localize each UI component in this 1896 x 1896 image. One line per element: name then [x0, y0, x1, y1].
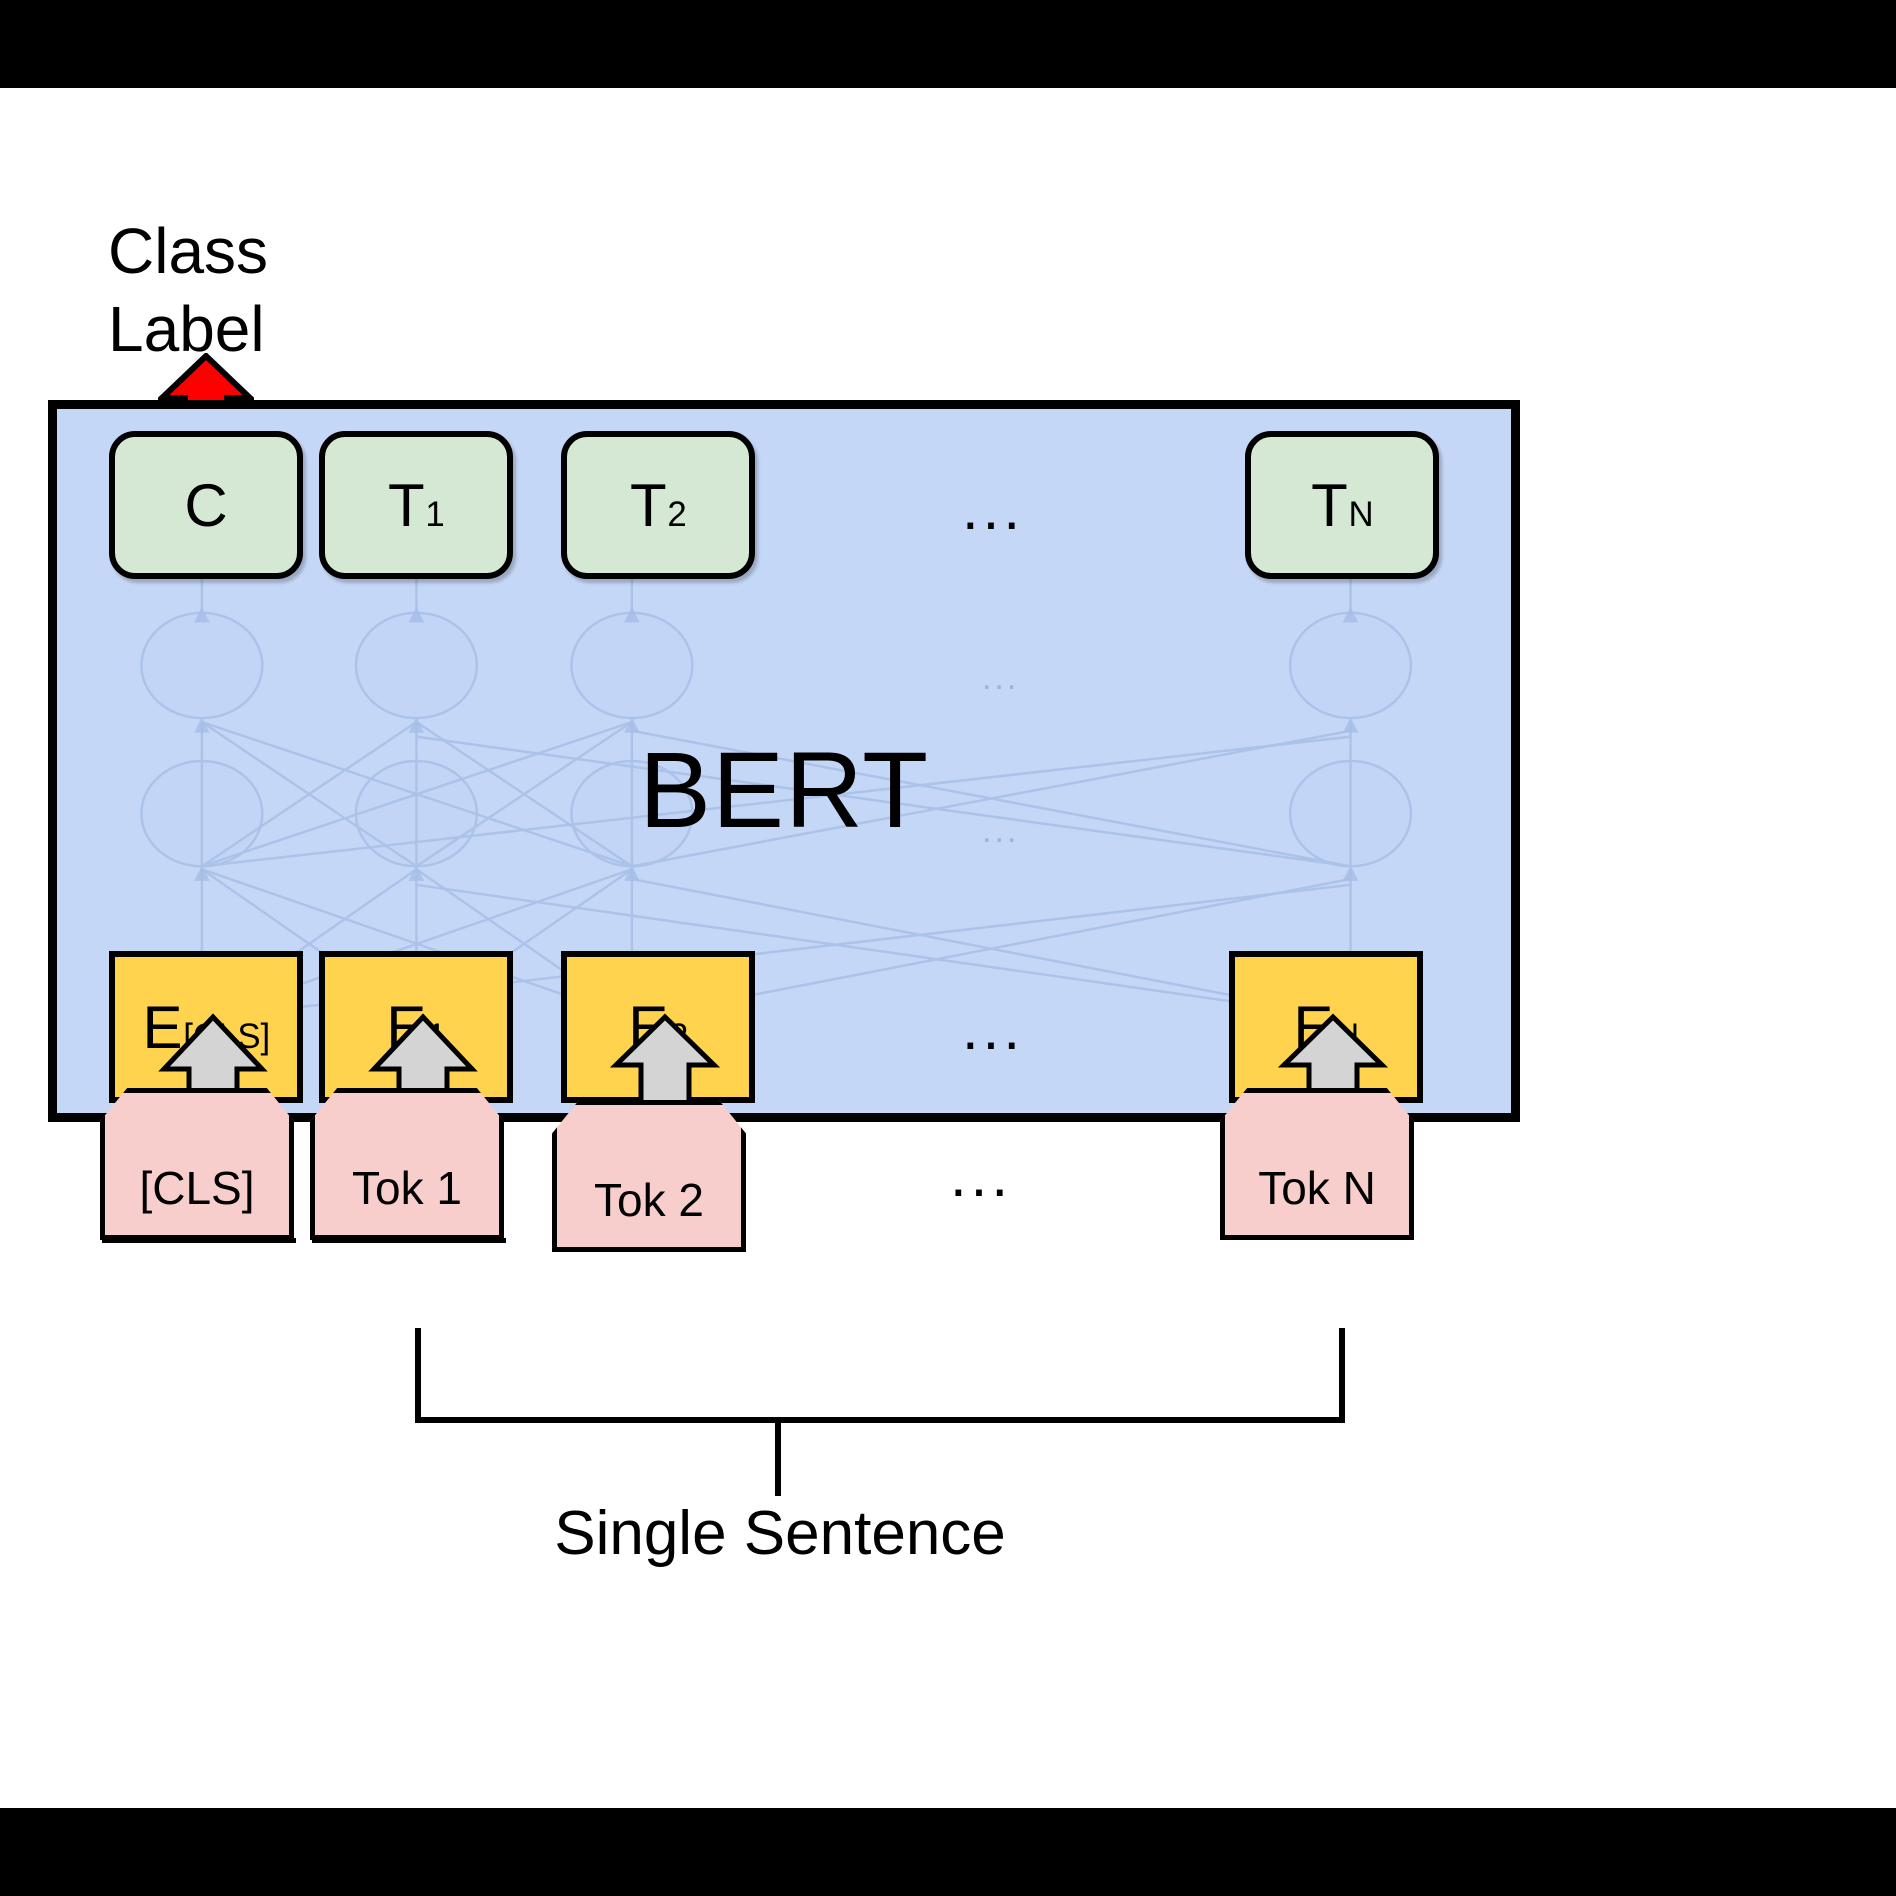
- output-token-t1: T1: [319, 431, 513, 579]
- input-token-tokn-label: Tok N: [1258, 1161, 1376, 1215]
- input-token-tok1-underline: [312, 1238, 506, 1243]
- output-token-c-label: C: [184, 471, 227, 540]
- input-token-tokn: Tok N: [1220, 1088, 1414, 1240]
- output-token-tn-sub: N: [1348, 495, 1373, 535]
- output-token-tn-base: T: [1311, 471, 1348, 540]
- input-row-ellipsis: ...: [950, 1146, 1012, 1206]
- output-token-t1-sub: 1: [425, 495, 444, 535]
- output-token-c: C: [109, 431, 303, 579]
- net-row2-ellipsis: ...: [982, 814, 1019, 848]
- diagram-sheet: Class Label: [0, 88, 1896, 1808]
- input-token-cls-label: [CLS]: [139, 1161, 254, 1215]
- embedding-row-ellipsis: ...: [962, 999, 1024, 1059]
- class-label-text: Class Label: [108, 212, 408, 368]
- output-token-t2-sub: 2: [667, 495, 686, 535]
- net-row1-ellipsis: ...: [982, 661, 1019, 695]
- input-token-cls-underline: [102, 1238, 296, 1243]
- output-token-t2: T2: [561, 431, 755, 579]
- input-token-cls: [CLS]: [100, 1088, 294, 1240]
- input-token-tok1: Tok 1: [310, 1088, 504, 1240]
- output-row-ellipsis: ...: [962, 479, 1024, 539]
- input-token-tok2: Tok 2: [552, 1100, 746, 1252]
- input-token-tok1-label: Tok 1: [352, 1161, 462, 1215]
- bert-title-label: BERT: [57, 727, 1511, 852]
- diagram-canvas: Class Label: [0, 0, 1896, 1896]
- input-token-tok2-label: Tok 2: [594, 1173, 704, 1227]
- grey-up-arrow-icon-tok2: [610, 1013, 720, 1113]
- output-token-tn: TN: [1245, 431, 1439, 579]
- output-token-t1-base: T: [388, 471, 425, 540]
- sentence-caption: Single Sentence: [0, 1498, 1560, 1569]
- output-token-t2-base: T: [630, 471, 667, 540]
